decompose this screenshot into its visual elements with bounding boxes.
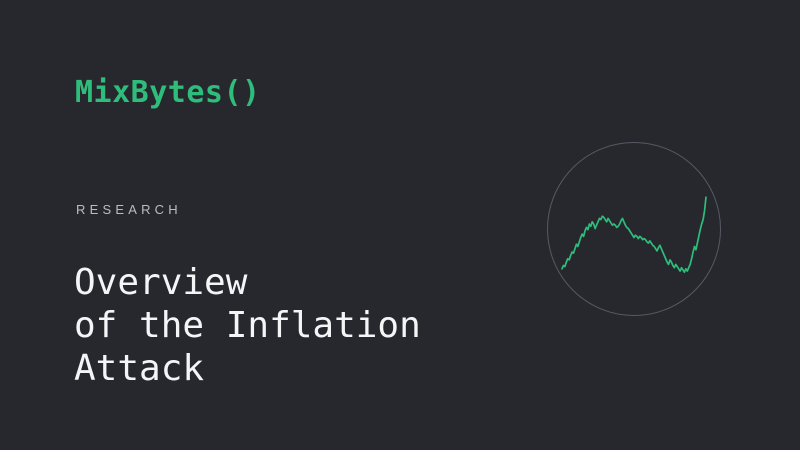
medallion-ring-circle <box>548 143 721 316</box>
sparkline-chart <box>546 141 722 317</box>
cover-canvas: MixBytes() RESEARCH Overview of the Infl… <box>0 0 800 450</box>
chart-medallion <box>546 141 722 317</box>
title-line-2: of the Inflation <box>74 304 504 347</box>
title-line-3: Attack <box>74 347 504 390</box>
price-line-series <box>562 197 706 272</box>
title-line-1: Overview <box>74 261 504 304</box>
page-title: Overview of the Inflation Attack <box>74 261 504 390</box>
category-eyebrow: RESEARCH <box>76 203 182 216</box>
brand-logo: MixBytes() <box>75 78 261 108</box>
